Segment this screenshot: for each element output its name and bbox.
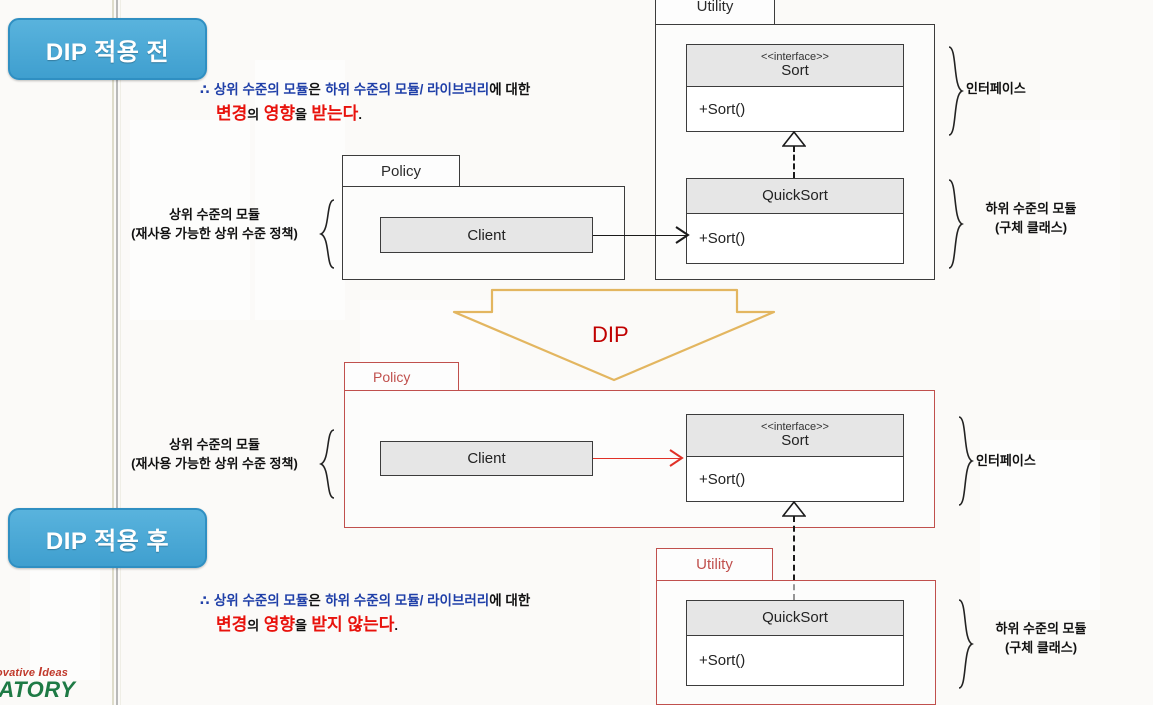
anno-before-seg5: 변경: [216, 104, 247, 123]
left-label-before-line2: (재사용 가능한 상위 수준 정책): [112, 225, 317, 244]
right-brace-interface-after: [955, 415, 975, 507]
anno-before-seg2: 은: [308, 82, 320, 97]
left-label-after: 상위 수준의 모듈 (재사용 가능한 상위 수준 정책): [112, 436, 317, 474]
anno-before-seg7: 영향: [264, 104, 295, 123]
anno-after-seg6: 의: [247, 618, 259, 633]
anno-after-seg10: .: [394, 618, 398, 633]
class-sort-after-op: +Sort(): [687, 457, 903, 502]
right-label-lowlevel-before-line1: 하위 수준의 모듈: [966, 200, 1096, 219]
left-label-before-line1: 상위 수준의 모듈: [112, 206, 317, 225]
right-label-lowlevel-before-line2: (구체 클래스): [966, 219, 1096, 238]
badge-dip-after-label: DIP 적용 후: [46, 521, 169, 556]
class-quicksort-after: QuickSort +Sort(): [686, 600, 904, 686]
annotation-before: ∴ 상위 수준의 모듈은 하위 수준의 모듈/ 라이브러리에 대한 변경의 영향…: [200, 79, 620, 126]
anno-before-seg9: 받는다: [311, 104, 358, 123]
right-label-lowlevel-before: 하위 수준의 모듈 (구체 클래스): [966, 200, 1096, 238]
class-quicksort-before-name: QuickSort: [762, 188, 828, 205]
anno-before-seg6: 의: [247, 107, 259, 122]
badge-dip-before: DIP 적용 전: [8, 18, 207, 80]
realization-arrowhead-before: [782, 131, 806, 147]
right-brace-lowlevel-after: [955, 598, 975, 690]
class-quicksort-before-op: +Sort(): [687, 214, 903, 263]
right-label-interface-after: 인터페이스: [976, 452, 1096, 471]
package-policy-before-tab: Policy: [342, 155, 460, 186]
anno-after-seg9: 받지 않는다: [311, 615, 394, 634]
right-label-lowlevel-after: 하위 수준의 모듈 (구체 클래스): [976, 620, 1106, 658]
package-policy-after-tab: Policy: [344, 362, 459, 390]
anno-before-seg10: .: [358, 107, 362, 122]
package-utility-after-tab: Utility: [656, 548, 773, 580]
badge-dip-after: DIP 적용 후: [8, 508, 207, 568]
anno-after-seg2: 은: [308, 593, 320, 608]
class-sort-before: <<interface>> Sort +Sort(): [686, 44, 904, 132]
right-label-interface-before: 인터페이스: [966, 80, 1086, 99]
class-sort-after: <<interface>> Sort +Sort(): [686, 414, 904, 502]
package-utility-before-tab: Utility: [655, 0, 775, 24]
right-label-lowlevel-after-line2: (구체 클래스): [976, 639, 1106, 658]
slide-divider-line: [112, 0, 121, 705]
dependency-arrowhead-before: [672, 225, 692, 250]
class-sort-before-name: Sort: [781, 63, 809, 80]
left-brace-before: [318, 198, 338, 270]
class-sort-after-header: <<interface>> Sort: [687, 415, 903, 457]
lab-logo: nnovative Ideas RATORY: [0, 664, 75, 703]
dependency-arrowhead-after: [666, 449, 686, 474]
therefore-symbol-after: ∴: [200, 593, 209, 608]
therefore-symbol: ∴: [200, 82, 209, 97]
class-client-after: Client: [380, 441, 593, 476]
left-label-after-line2: (재사용 가능한 상위 수준 정책): [112, 455, 317, 474]
class-quicksort-before-header: QuickSort: [687, 179, 903, 214]
package-policy-before-label: Policy: [381, 163, 421, 180]
anno-before-seg3: 하위 수준의 모듈/ 라이브러리: [325, 82, 489, 97]
dip-transform-label: DIP: [592, 322, 629, 348]
package-utility-before-label: Utility: [697, 0, 734, 15]
package-utility-after-label: Utility: [696, 556, 733, 573]
class-quicksort-before: QuickSort +Sort(): [686, 178, 904, 264]
anno-after-seg5: 변경: [216, 615, 247, 634]
left-label-after-line1: 상위 수준의 모듈: [112, 436, 317, 455]
lab-logo-name: RATORY: [0, 677, 75, 703]
right-label-lowlevel-after-line1: 하위 수준의 모듈: [976, 620, 1106, 639]
anno-after-seg4: 에 대한: [489, 593, 530, 608]
realization-arrowhead-after: [782, 501, 806, 517]
package-policy-after-label: Policy: [373, 369, 410, 385]
anno-after-seg7: 영향: [264, 615, 295, 634]
anno-before-seg4: 에 대한: [489, 82, 530, 97]
anno-after-seg1: 상위 수준의 모듈: [214, 593, 308, 608]
left-brace-after: [318, 428, 338, 500]
left-label-before: 상위 수준의 모듈 (재사용 가능한 상위 수준 정책): [112, 206, 317, 244]
anno-before-seg1: 상위 수준의 모듈: [214, 82, 308, 97]
class-quicksort-after-name: QuickSort: [762, 610, 828, 627]
class-sort-before-op: +Sort(): [687, 87, 903, 132]
right-brace-interface-before: [945, 45, 965, 137]
realization-dashed-line-before: [793, 146, 795, 178]
anno-after-seg8: 을: [295, 618, 307, 633]
badge-dip-before-label: DIP 적용 전: [46, 32, 169, 67]
class-client-after-name: Client: [467, 450, 505, 467]
anno-before-seg8: 을: [295, 107, 307, 122]
class-sort-after-name: Sort: [781, 433, 809, 450]
class-client-before-name: Client: [467, 227, 505, 244]
class-client-before: Client: [380, 217, 593, 253]
class-sort-before-header: <<interface>> Sort: [687, 45, 903, 87]
annotation-after: ∴ 상위 수준의 모듈은 하위 수준의 모듈/ 라이브러리에 대한 변경의 영향…: [200, 590, 630, 637]
anno-after-seg3: 하위 수준의 모듈/ 라이브러리: [325, 593, 489, 608]
class-quicksort-after-header: QuickSort: [687, 601, 903, 636]
right-label-interface-after-text: 인터페이스: [976, 452, 1096, 471]
right-brace-lowlevel-before: [945, 178, 965, 270]
right-label-interface-before-text: 인터페이스: [966, 80, 1086, 99]
class-quicksort-after-op: +Sort(): [687, 636, 903, 685]
